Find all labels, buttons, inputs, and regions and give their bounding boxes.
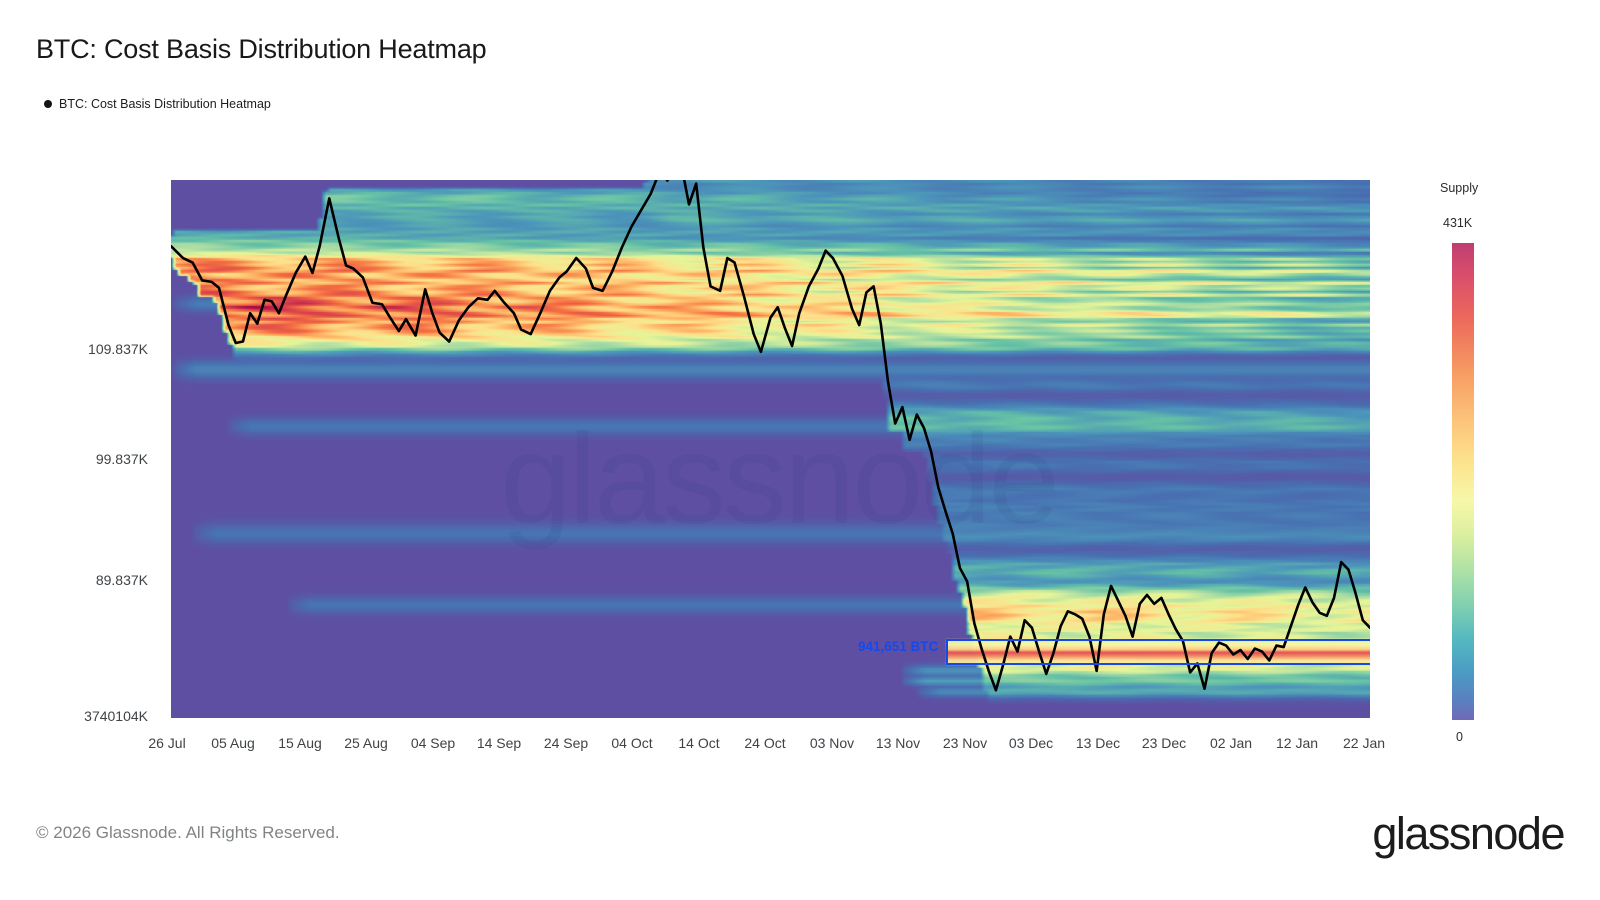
page-title: BTC: Cost Basis Distribution Heatmap [36, 34, 486, 65]
y-axis-tick-3: 3740104K [0, 708, 148, 724]
chart-legend[interactable]: BTC: Cost Basis Distribution Heatmap [44, 97, 271, 111]
y-axis-tick-2: 89.837K [96, 572, 148, 588]
footer-copyright: © 2026 Glassnode. All Rights Reserved. [36, 823, 340, 843]
x-axis-tick-14: 13 Dec [1076, 735, 1120, 751]
colorbar-max-label: 431K [1443, 216, 1472, 230]
y-axis-tick-0: 109.837K [88, 341, 148, 357]
x-axis-tick-0: 26 Jul [148, 735, 185, 751]
y-axis-tick-1: 99.837K [96, 451, 148, 467]
x-axis-tick-11: 13 Nov [876, 735, 920, 751]
heatmap-plot-area[interactable]: glassnode [171, 180, 1370, 718]
x-axis-tick-17: 12 Jan [1276, 735, 1318, 751]
x-axis-tick-18: 22 Jan [1343, 735, 1385, 751]
x-axis-tick-7: 04 Oct [611, 735, 652, 751]
brand-logo: glassnode [1372, 808, 1564, 860]
x-axis-tick-6: 24 Sep [544, 735, 588, 751]
colorbar-gradient [1452, 243, 1474, 720]
x-axis-tick-12: 23 Nov [943, 735, 987, 751]
x-axis-tick-9: 24 Oct [744, 735, 785, 751]
price-line-overlay [171, 180, 1370, 718]
x-axis-tick-2: 15 Aug [278, 735, 322, 751]
price-line-path [171, 180, 1370, 690]
legend-dot-icon [44, 100, 52, 108]
x-axis-tick-8: 14 Oct [678, 735, 719, 751]
chart-page: BTC: Cost Basis Distribution Heatmap BTC… [0, 0, 1600, 900]
x-axis-tick-4: 04 Sep [411, 735, 455, 751]
x-axis-tick-16: 02 Jan [1210, 735, 1252, 751]
colorbar-title: Supply [1440, 181, 1478, 195]
x-axis-tick-1: 05 Aug [211, 735, 255, 751]
x-axis-tick-5: 14 Sep [477, 735, 521, 751]
supply-cluster-label: 941,651 BTC [858, 639, 938, 654]
x-axis-tick-15: 23 Dec [1142, 735, 1186, 751]
x-axis-tick-13: 03 Dec [1009, 735, 1053, 751]
colorbar-min-label: 0 [1456, 730, 1463, 744]
x-axis-tick-10: 03 Nov [810, 735, 854, 751]
legend-item-label: BTC: Cost Basis Distribution Heatmap [59, 97, 271, 111]
x-axis-tick-3: 25 Aug [344, 735, 388, 751]
